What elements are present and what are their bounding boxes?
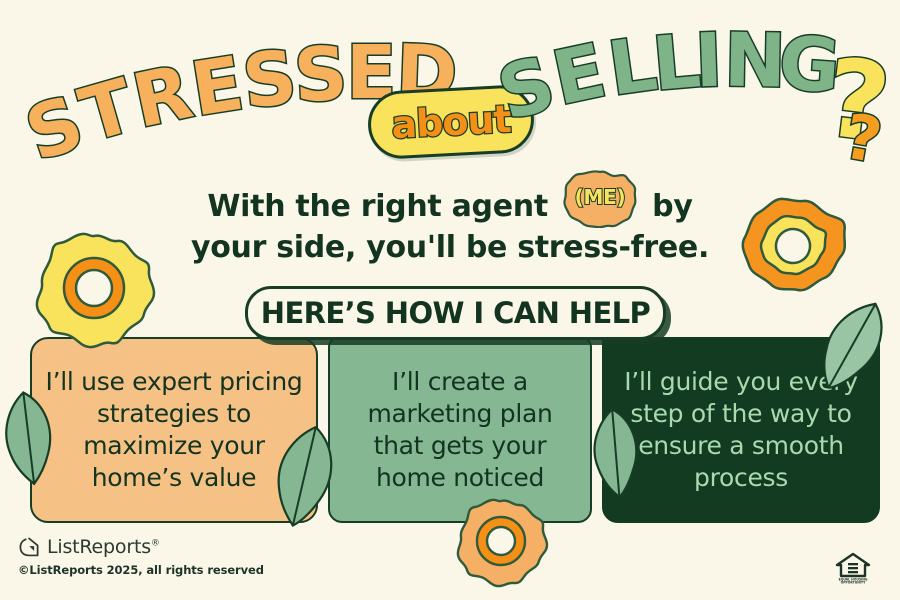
eho-line-two: OPPORTUNITY bbox=[841, 580, 867, 584]
help-card-guidance: I’ll guide you every step of the way to … bbox=[602, 337, 880, 523]
headline: S T R E S S E D about S E L L I N G ? ? bbox=[0, 0, 900, 180]
headline-letter: E bbox=[187, 47, 249, 128]
help-card-text: I’ll use expert pricing strategies to ma… bbox=[32, 366, 316, 494]
subtitle-line-one: With the right agent (ME) by bbox=[0, 170, 900, 228]
brand-registered-mark: ® bbox=[151, 539, 160, 549]
section-banner-label: HERE’S HOW I CAN HELP bbox=[261, 296, 650, 330]
headline-letter: S bbox=[239, 40, 300, 119]
brand-logo: ListReports® bbox=[18, 536, 264, 558]
poster-canvas: S T R E S S E D about S E L L I N G ? ? … bbox=[0, 0, 900, 600]
headline-letter: I bbox=[694, 24, 724, 99]
about-label: about bbox=[390, 97, 511, 147]
copyright-text: ©ListReports 2025, all rights reserved bbox=[18, 563, 264, 577]
subtitle-line-two: your side, you'll be stress-free. bbox=[0, 228, 900, 268]
headline-letter: S bbox=[292, 37, 349, 114]
me-badge-label: (ME) bbox=[575, 185, 626, 209]
equal-housing-opportunity-logo: EQUAL HOUSING OPPORTUNITY bbox=[833, 550, 873, 588]
help-card-text: I’ll guide you every step of the way to … bbox=[604, 366, 878, 494]
subtitle-text-after: by bbox=[652, 189, 692, 224]
section-banner: HERE’S HOW I CAN HELP bbox=[245, 286, 666, 340]
brand-name-text: ListReports bbox=[47, 536, 151, 558]
me-badge: (ME) bbox=[562, 170, 638, 228]
help-card-pricing: I’ll use expert pricing strategies to ma… bbox=[30, 337, 318, 523]
help-card-text: I’ll create a marketing plan that gets y… bbox=[330, 366, 590, 494]
footer: ListReports® ©ListReports 2025, all righ… bbox=[18, 536, 264, 577]
brand-name: ListReports® bbox=[47, 536, 160, 558]
listreports-house-icon bbox=[18, 536, 40, 558]
help-card-marketing: I’ll create a marketing plan that gets y… bbox=[328, 337, 592, 523]
subtitle-text-before: With the right agent bbox=[207, 189, 547, 224]
equal-housing-icon: EQUAL HOUSING OPPORTUNITY bbox=[833, 550, 873, 584]
subtitle: With the right agent (ME) by your side, … bbox=[0, 170, 900, 268]
